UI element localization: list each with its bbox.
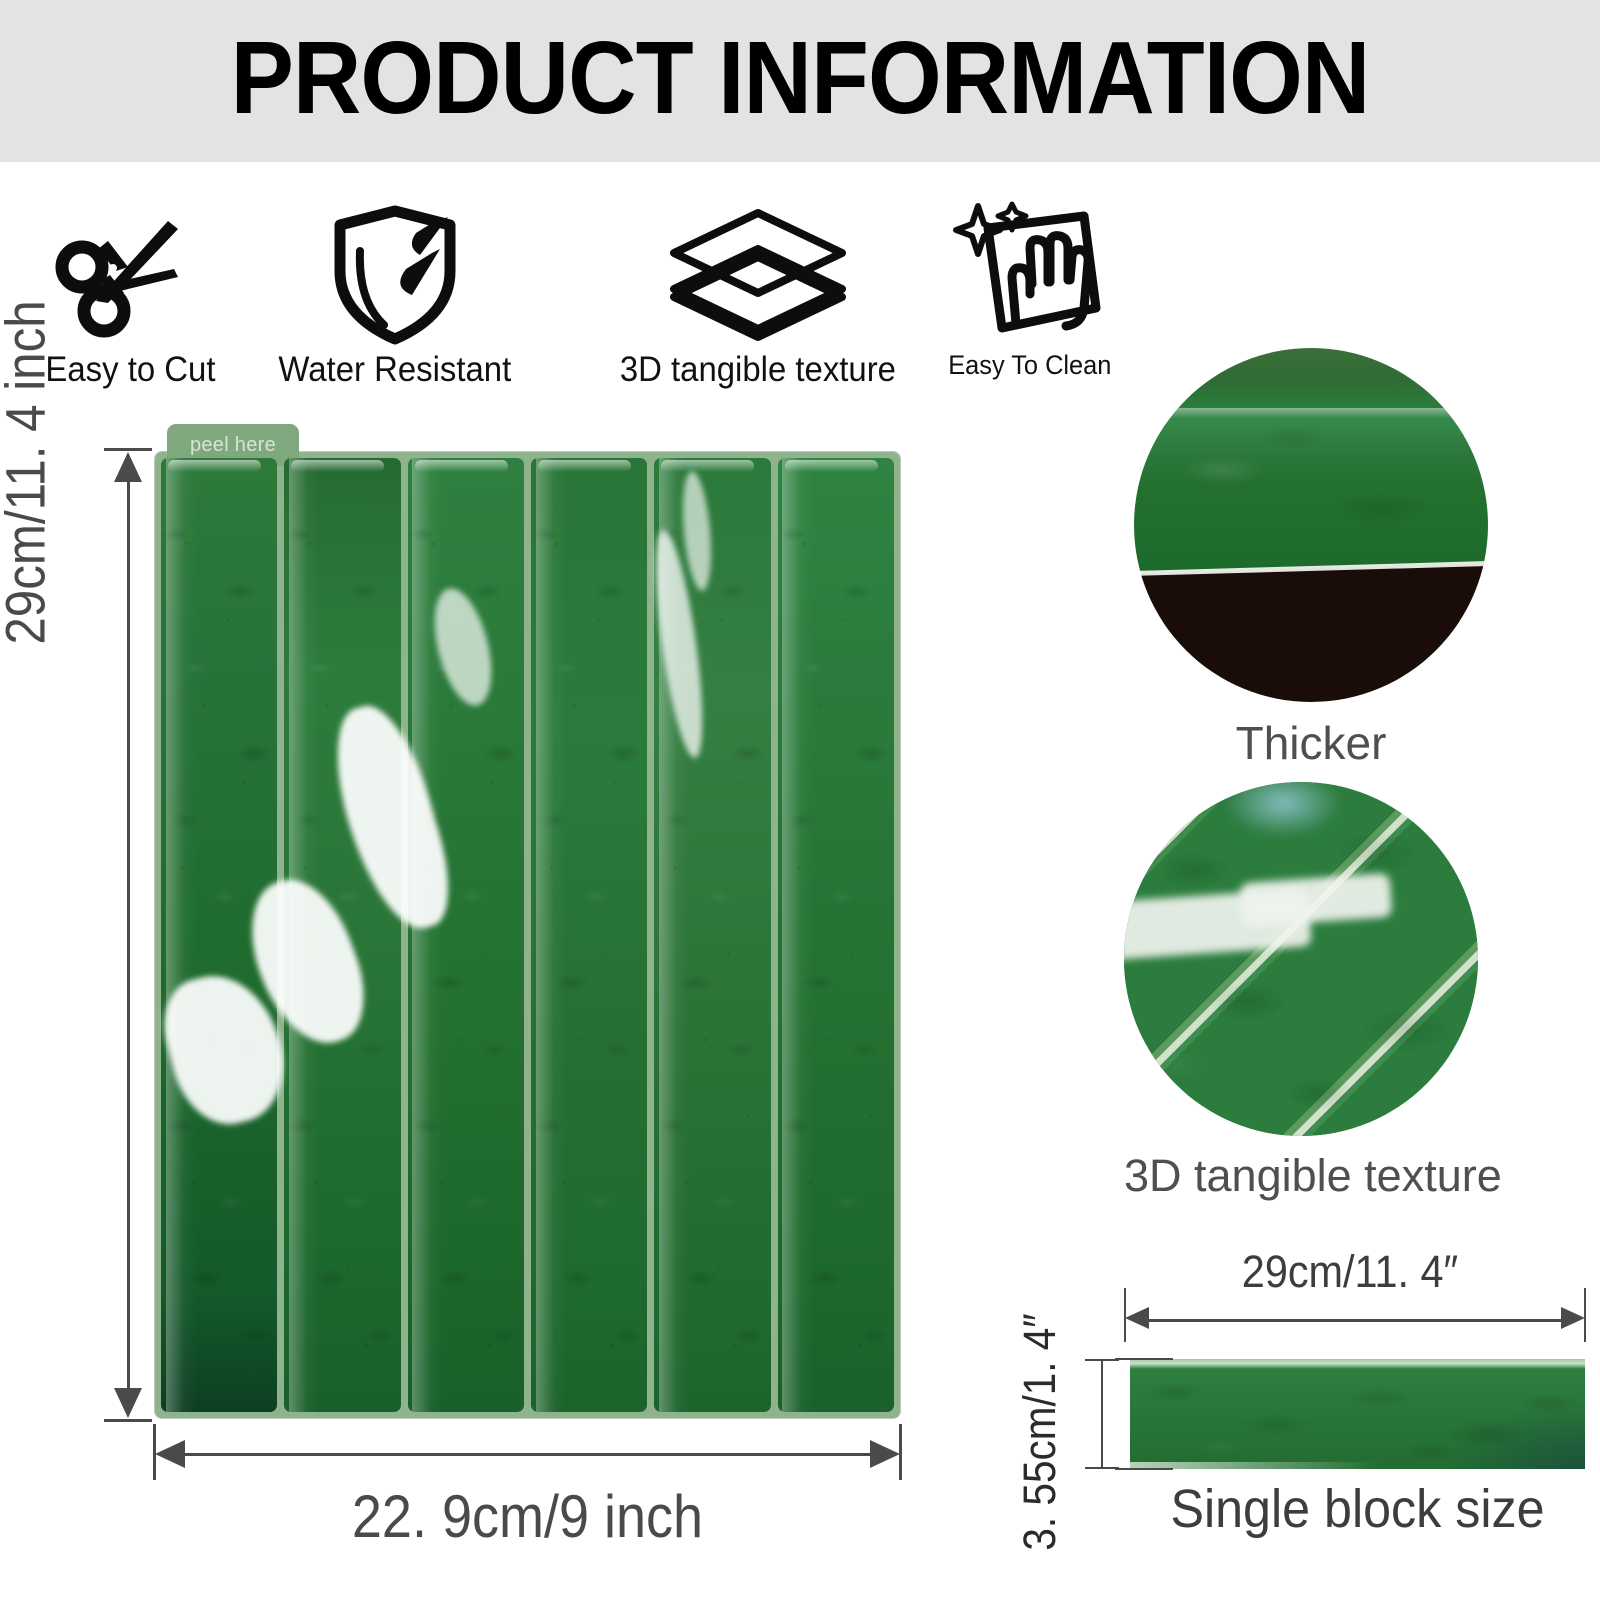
tile-strip-group <box>161 458 894 1412</box>
single-block-size-diagram: 29cm/11. 4″ 3. 55cm/1. 4″ Single block s… <box>985 1246 1600 1586</box>
tile-strip <box>408 458 524 1412</box>
tile-strip <box>531 458 647 1412</box>
detail-callout-thicker: Thicker <box>1134 348 1488 770</box>
detail-callout-3d-texture: 3D tangible texture <box>1124 782 1502 1202</box>
texture-closeup-photo <box>1124 782 1478 1136</box>
block-width-dimension <box>1125 1304 1585 1338</box>
detail-caption: 3D tangible texture <box>1124 1150 1502 1202</box>
hand-wipe-cloth-sparkle-icon <box>950 200 1110 350</box>
single-block-swatch <box>1130 1359 1585 1469</box>
detail-caption: Thicker <box>1134 716 1488 770</box>
block-width-label: 29cm/11. 4″ <box>1143 1246 1557 1298</box>
thicker-edge-photo <box>1134 348 1488 702</box>
tile-strip <box>161 458 277 1412</box>
single-block-caption: Single block size <box>1146 1478 1569 1540</box>
panel-width-label: 22. 9cm/9 inch <box>192 1482 863 1551</box>
panel-width-dimension <box>155 1432 900 1478</box>
tile-strip <box>778 458 894 1412</box>
panel-height-dimension <box>108 452 148 1418</box>
tile-strip <box>654 458 770 1412</box>
tile-panel: peel here <box>155 452 900 1418</box>
tile-strip <box>284 458 400 1412</box>
block-height-dimension <box>1085 1359 1119 1469</box>
main-tile-panel-area: peel here <box>0 0 960 1600</box>
panel-height-label: 29cm/11. 4 inch <box>0 288 58 658</box>
block-height-label: 3. 55cm/1. 4″ <box>1014 1288 1066 1576</box>
feature-label: Easy To Clean <box>948 350 1111 381</box>
product-information-infographic: PRODUCT INFORMATION Easy to Cut <box>0 0 1600 1600</box>
